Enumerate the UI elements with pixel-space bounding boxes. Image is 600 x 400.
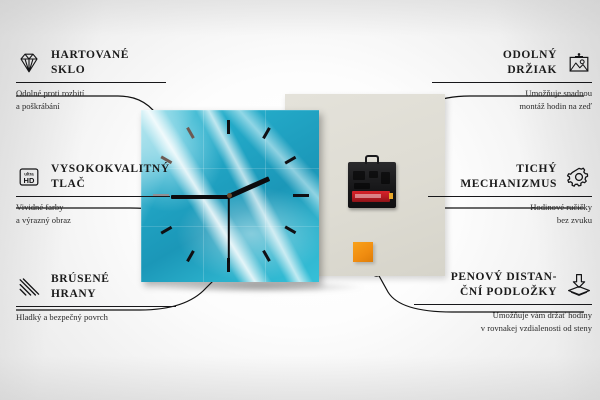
ultra-hd-icon: ultra HD: [16, 165, 42, 189]
feature-durable-holder: ODOLNÝ DRŽIAK Umožňuje snadnou montáž ho…: [432, 48, 592, 112]
press-layers-icon: [566, 273, 592, 297]
battery: [352, 191, 390, 202]
feature-high-quality-print: ultra HD VYSOKOKVALITNÝ TLAČ Vividné far…: [16, 162, 170, 226]
divider: [414, 304, 592, 305]
feature-title: VYSOKOKVALITNÝ TLAČ: [51, 162, 170, 192]
feature-description: Vividné farby a výrazný obraz: [16, 201, 170, 225]
divider: [432, 82, 592, 83]
feature-description: Odolné proti rozbití a poškrábání: [16, 87, 166, 111]
divider: [428, 196, 592, 197]
feature-silent-mechanism: TICHÝ MECHANIZMUS Hodinové ručičky bez z…: [428, 162, 592, 226]
gear-icon: [566, 165, 592, 189]
picture-hanger-icon: [566, 51, 592, 75]
hands-pin: [227, 193, 232, 198]
feature-description: Hodinové ručičky bez zvuku: [428, 201, 592, 225]
feature-description: Umožňuje vám držať hodiny v rovnakej vzd…: [414, 309, 592, 333]
mechanism-hook: [365, 155, 379, 164]
diamond-icon: [16, 51, 42, 75]
svg-text:HD: HD: [24, 176, 35, 185]
feature-title: HARTOVANÉ SKLO: [51, 48, 129, 78]
feature-description: Umožňuje snadnou montáž hodin na zeď: [432, 87, 592, 111]
divider: [16, 306, 176, 307]
feature-title: ODOLNÝ DRŽIAK: [503, 48, 557, 78]
foam-spacer-pad: [353, 242, 373, 262]
feature-description: Hladký a bezpečný povrch: [16, 311, 176, 323]
feature-ground-edges: BRÚSENÉ HRANY Hladký a bezpečný povrch: [16, 272, 176, 324]
minute-hand: [171, 195, 229, 199]
diagonal-lines-icon: [16, 275, 42, 299]
feature-title: PENOVÝ DISTAN- ČNÍ PODLOŽKY: [451, 270, 557, 300]
second-hand: [228, 196, 230, 262]
feature-title: BRÚSENÉ HRANY: [51, 272, 110, 302]
divider: [16, 82, 166, 83]
feature-tempered-glass: HARTOVANÉ SKLO Odolné proti rozbití a po…: [16, 48, 166, 112]
infographic-canvas: HARTOVANÉ SKLO Odolné proti rozbití a po…: [0, 0, 600, 400]
clock-mechanism: [348, 162, 396, 208]
feature-foam-spacers: PENOVÝ DISTAN- ČNÍ PODLOŽKY Umožňuje vám…: [414, 270, 592, 334]
feature-title: TICHÝ MECHANIZMUS: [460, 162, 557, 192]
divider: [16, 196, 170, 197]
